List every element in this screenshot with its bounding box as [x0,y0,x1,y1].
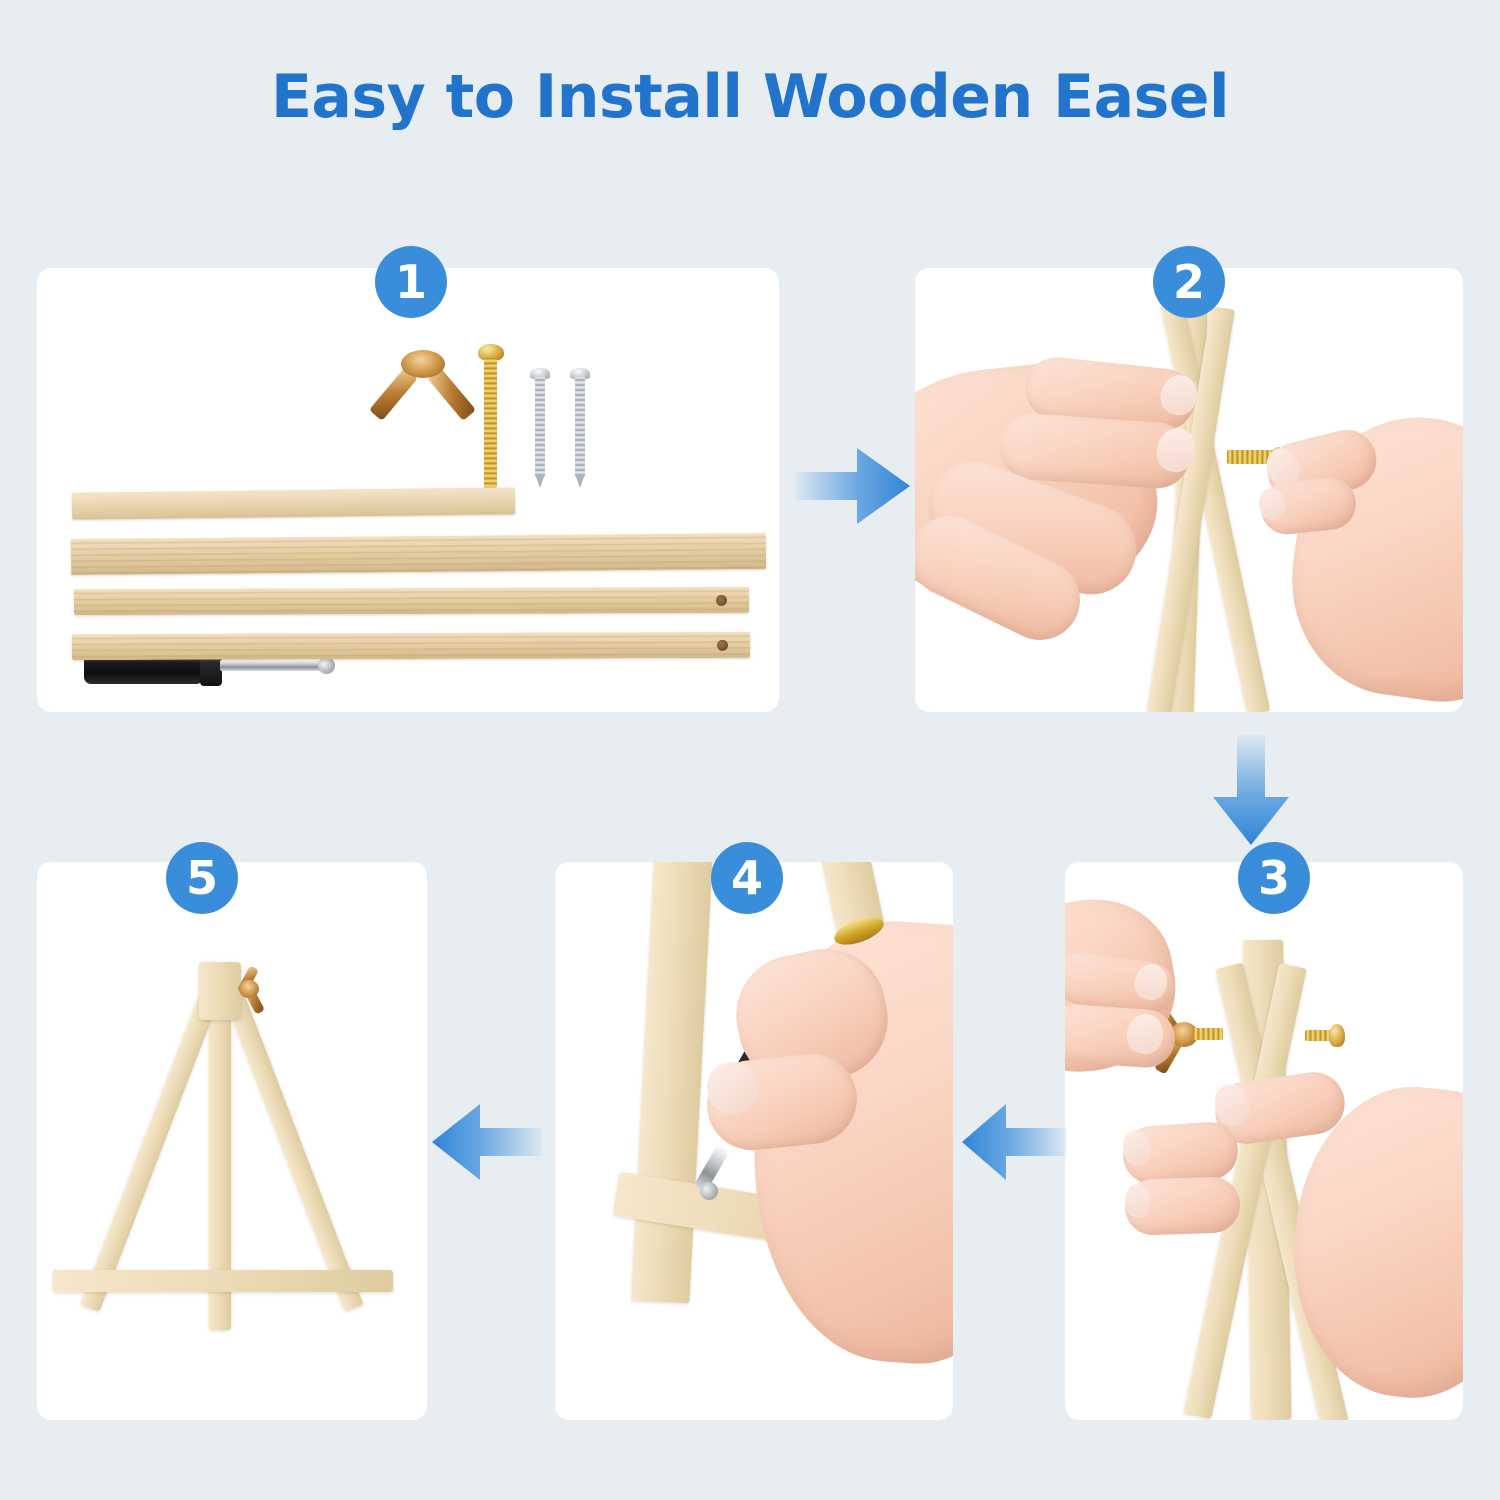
step-badge-3: 3 [1238,842,1310,914]
arrow-step2-to-step3 [1205,735,1297,845]
step-badge-2: 2 [1153,246,1225,318]
screw-1 [529,368,551,493]
step-badge-5: 5 [166,842,238,914]
easel-top-joint [199,962,241,1020]
wood-leg-long-3 [72,632,750,660]
drill-hole [716,595,727,606]
step-panel-1 [37,268,779,712]
screw-2 [569,368,591,493]
arrow-step3-to-step4 [962,1098,1067,1186]
drill-hole [717,640,728,651]
arrow-step1-to-step2 [795,440,910,532]
easel-leg [631,862,712,1303]
step-3-illustration [1065,862,1463,1420]
step-panel-3 [1065,862,1463,1420]
step-2-illustration [915,268,1463,712]
wood-leg-long-2 [74,587,749,615]
step-panel-4 [555,862,953,1420]
easel-crossbar [53,1270,393,1292]
step-4-illustration [555,862,953,1420]
wood-leg-long-1 [71,533,766,575]
step-5-illustration [37,862,427,1420]
step-badge-4: 4 [711,842,783,914]
wood-crossbar-short [72,487,515,519]
step-panel-2 [915,268,1463,712]
arrow-step4-to-step5 [432,1098,542,1186]
step-panel-5 [37,862,427,1420]
step-badge-1: 1 [375,246,447,318]
step-1-illustration [37,268,779,712]
page-title: Easy to Install Wooden Easel [0,62,1500,132]
